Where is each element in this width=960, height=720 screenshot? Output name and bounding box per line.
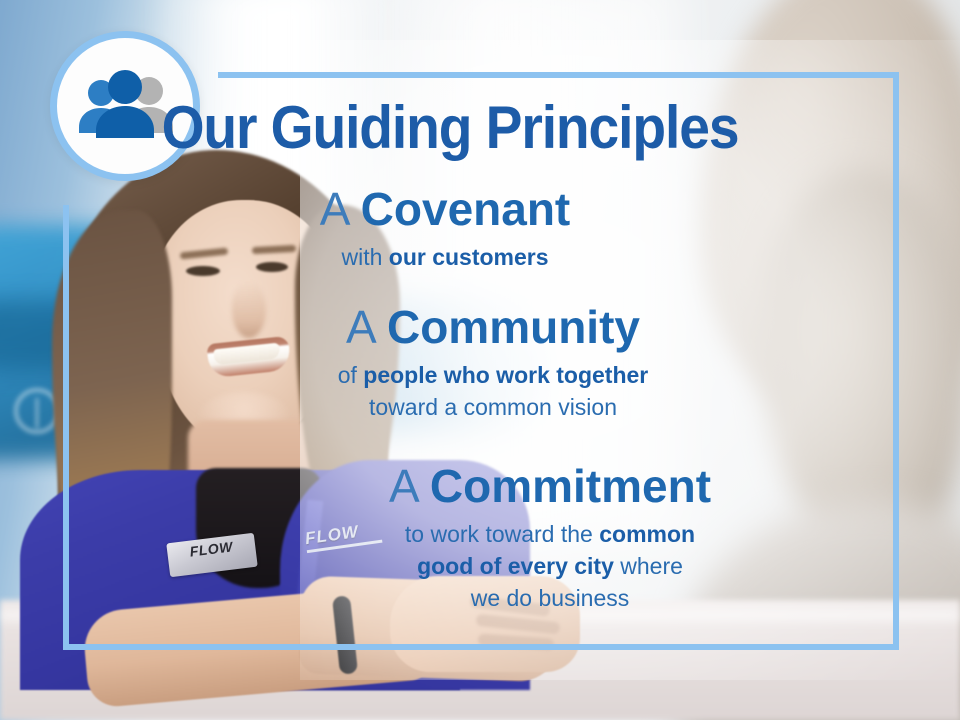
people-group-icon xyxy=(73,69,177,143)
people-badge xyxy=(50,31,200,181)
graphic-canvas: FLOW FLOW Our Guiding Principles xyxy=(0,0,960,720)
